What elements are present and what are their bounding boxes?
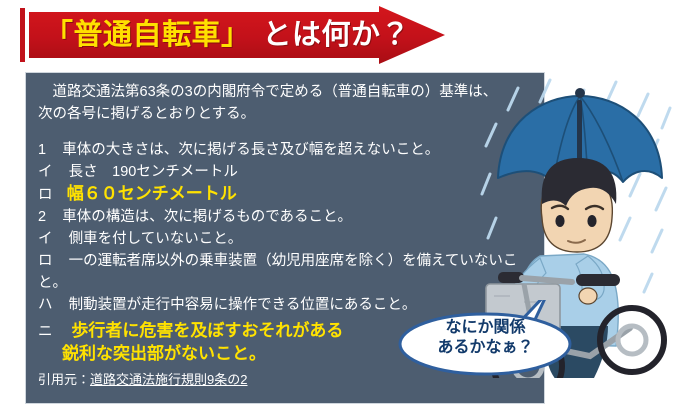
title-banner: 「普通自転車」 とは何か？ — [0, 6, 470, 64]
list-item: 2 車体の構造は、次に掲げるものであること。 — [38, 206, 538, 228]
item-marker: イ — [38, 231, 53, 247]
speech-bubble: なにか関係 あるかなぁ？ — [398, 300, 573, 376]
bubble-line-2: あるかなぁ？ — [437, 338, 533, 358]
item-marker: 2 — [38, 209, 46, 225]
list-item-highlight: ロ 幅６０センチメートル — [38, 183, 538, 206]
source-citation: 引用元：道路交通法施行規則9条の2 — [38, 369, 247, 388]
lead-paragraph: 道路交通法第63条の3の内閣府令で定める（普通自転車の）基準は、 次の各号に掲げ… — [38, 81, 538, 125]
item-text: 幅６０センチメートル — [67, 184, 237, 203]
source-link[interactable]: 道路交通法施行規則9条の2 — [90, 372, 247, 387]
item-text: 制動装置が走行中容易に操作できる位置にあること。 — [69, 297, 417, 313]
item-marker: ロ — [38, 187, 53, 203]
title-text: 「普通自転車」 とは何か？ — [44, 6, 410, 64]
item-marker: イ — [38, 164, 53, 180]
item-text-line1: 歩行者に危害を及ぼすおそれがある — [71, 321, 343, 340]
speech-bubble-text: なにか関係 あるかなぁ？ — [398, 300, 573, 376]
title-accent-bar — [20, 8, 25, 62]
slide-canvas: 「普通自転車」 とは何か？ 道路交通法第63条の3の内閣府令で定める（普通自転車… — [0, 0, 680, 414]
list-item: 1 車体の大きさは、次に掲げる長さ及び幅を超えないこと。 — [38, 139, 538, 161]
list-item: イ 長さ 190センチメートル — [38, 161, 538, 183]
item-text: 長さ 190センチメートル — [69, 164, 238, 180]
source-label: 引用元： — [38, 372, 90, 387]
item-marker: ニ — [38, 324, 53, 340]
item-marker: 1 — [38, 142, 46, 158]
item-marker: ハ — [38, 297, 53, 313]
item-marker: ロ — [38, 253, 53, 269]
list-item: イ 側車を付していないこと。 — [38, 228, 538, 250]
item-text: 一の運転者席以外の乗車装置（幼児用座席を除く）を備えていないこと。 — [38, 253, 517, 291]
title-term: 「普通自転車」 — [44, 21, 251, 50]
bubble-line-1: なにか関係 — [445, 318, 525, 338]
item-text: 車体の大きさは、次に掲げる長さ及び幅を超えないこと。 — [62, 142, 439, 158]
item-text: 車体の構造は、次に掲げるものであること。 — [62, 209, 352, 225]
item-text: 側車を付していないこと。 — [69, 231, 243, 247]
title-question: とは何か？ — [263, 21, 411, 50]
list-item: ロ 一の運転者席以外の乗車装置（幼児用座席を除く）を備えていないこと。 — [38, 250, 538, 294]
